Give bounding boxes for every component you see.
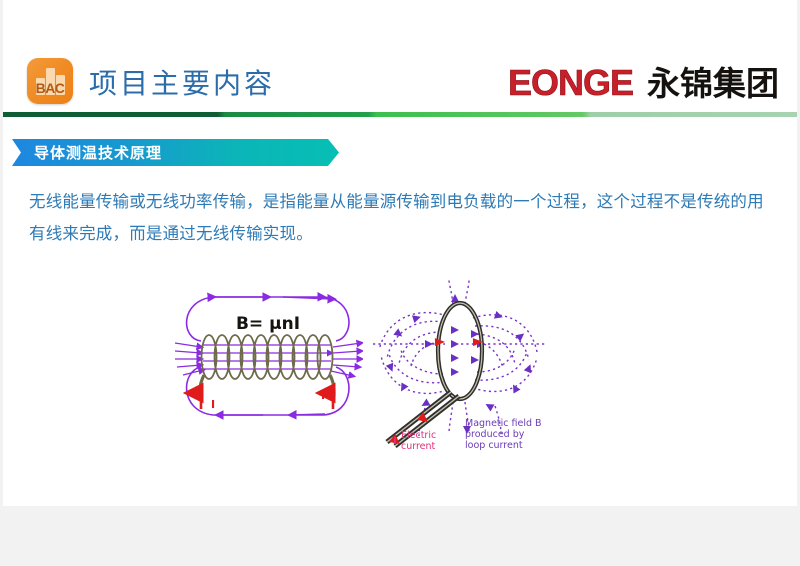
section-banner: 导体测温技术原理 xyxy=(12,139,339,166)
bac-logo-text: BAC xyxy=(27,80,73,96)
slide-header: BAC 项目主要内容 EONGE 永锦集团 xyxy=(3,0,797,110)
loop-current-label-line1: Electric xyxy=(401,430,436,441)
bac-logo-icon: BAC xyxy=(27,58,73,104)
solenoid-figure: I I B= μnI xyxy=(173,283,363,433)
loop-field-label-line3: loop current xyxy=(465,440,523,451)
loop-field-label-line2: produced by xyxy=(465,429,525,440)
loop-current-symbol: I xyxy=(393,436,397,447)
section-banner-label: 导体测温技术原理 xyxy=(34,142,162,163)
solenoid-formula-label: B= μnI xyxy=(236,314,300,334)
solenoid-current-label-left: I xyxy=(211,398,215,411)
corporate-logo-chinese: 永锦集团 xyxy=(647,67,779,100)
corporate-logo-latin: EONGE xyxy=(508,65,633,101)
page-title: 项目主要内容 xyxy=(89,62,275,102)
loop-current-label-line2: current xyxy=(401,441,436,452)
loop-diagram-svg: I Electric current Magnetic field B prod… xyxy=(365,278,551,456)
body-paragraph: 无线能量传输或无线功率传输，是指能量从能量源传输到电负载的一个过程，这个过程不是… xyxy=(29,186,771,250)
loop-field-label-line1: Magnetic field B xyxy=(465,418,542,429)
solenoid-diagram-svg: I I B= μnI xyxy=(173,283,363,433)
slide-canvas: BAC 项目主要内容 EONGE 永锦集团 导体测温技术原理 无线能量传输或无线… xyxy=(3,0,797,506)
loop-figure: I Electric current Magnetic field B prod… xyxy=(365,278,551,456)
figure-group: I I B= μnI xyxy=(173,278,553,458)
corporate-logo: EONGE 永锦集团 xyxy=(508,62,779,104)
solenoid-current-label-right: I xyxy=(321,389,325,402)
header-divider-rule xyxy=(3,112,797,117)
